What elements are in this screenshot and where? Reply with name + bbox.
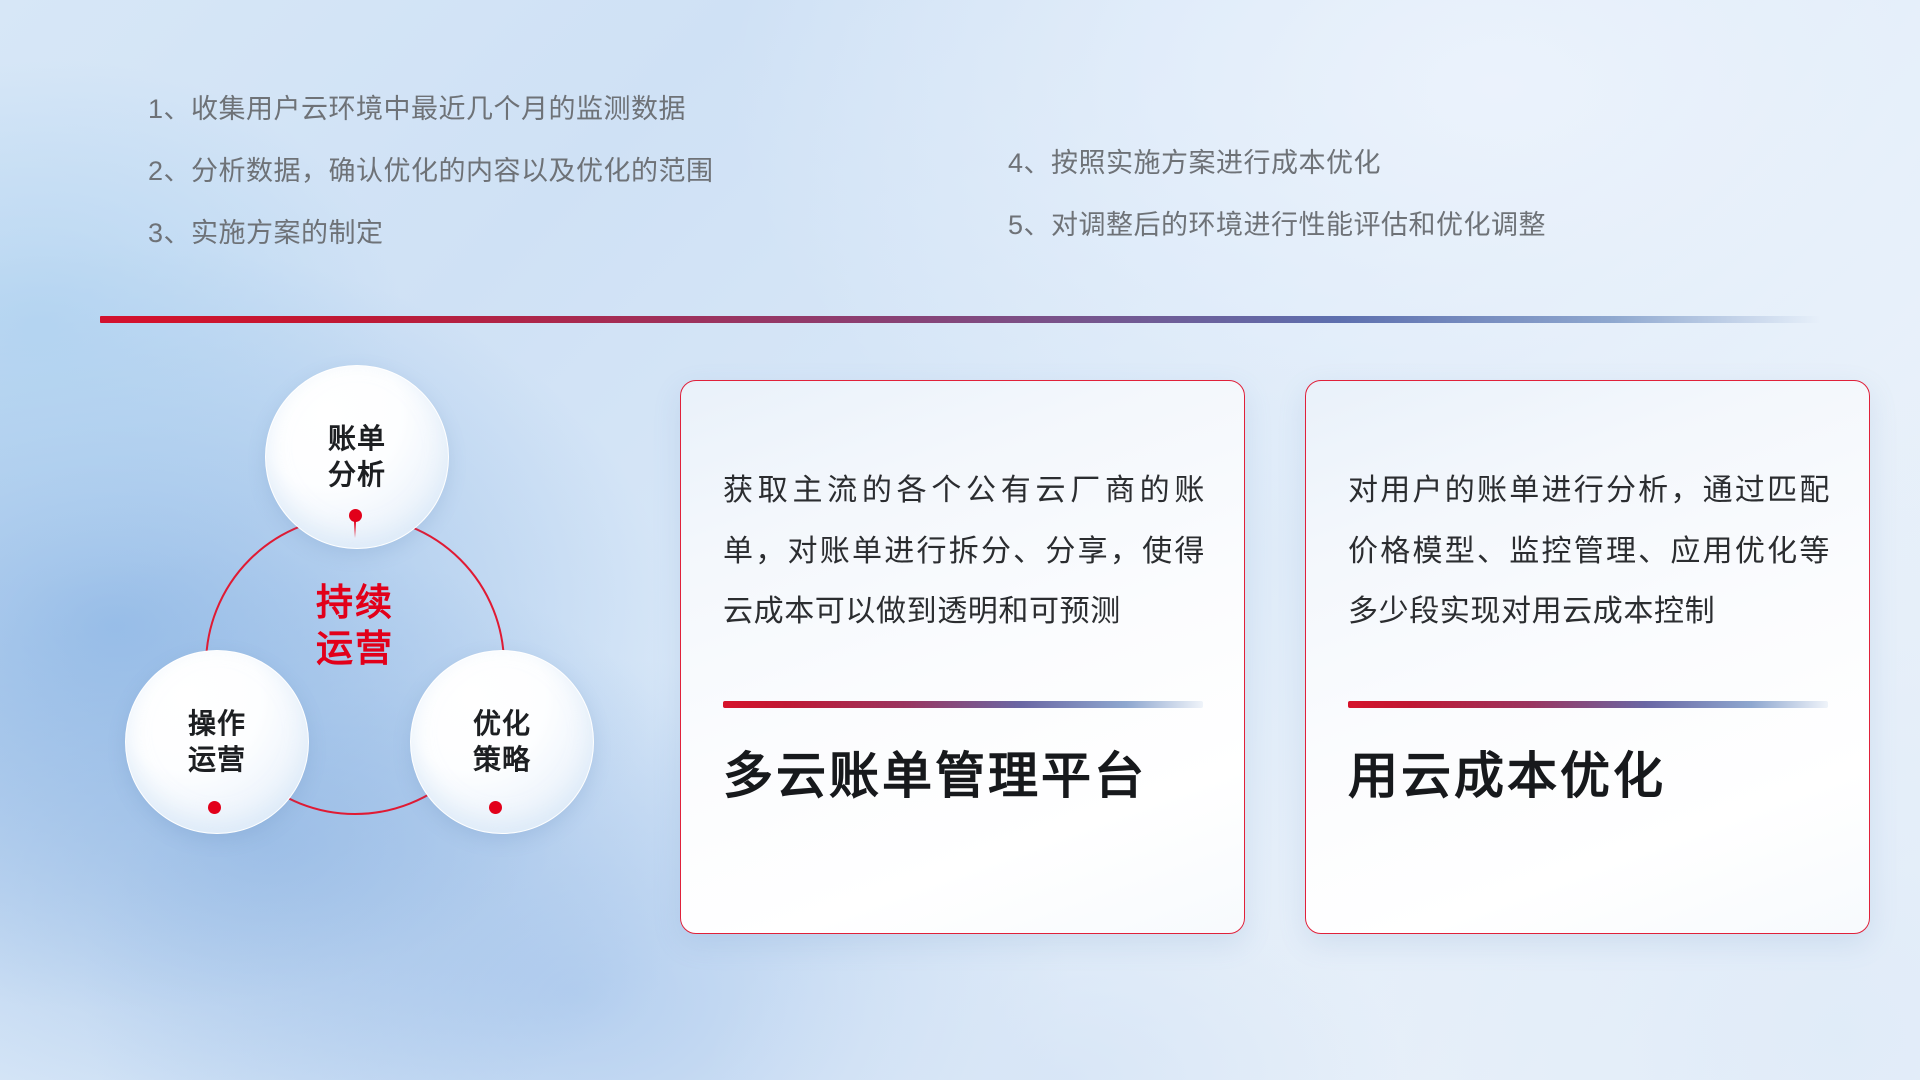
steps-column-left: 1、收集用户云环境中最近几个月的监测数据 2、分析数据，确认优化的内容以及优化的…	[148, 96, 848, 247]
lobe-label: 优化策略	[473, 706, 531, 778]
card-cloud-cost-optimization[interactable]: 对用户的账单进行分析，通过匹配价格模型、监控管理、应用优化等多少段实现对用云成本…	[1305, 380, 1870, 934]
lobe-label: 操作运营	[188, 706, 246, 778]
step-item: 2、分析数据，确认优化的内容以及优化的范围	[148, 158, 848, 185]
step-item: 5、对调整后的环境进行性能评估和优化调整	[1008, 212, 1768, 239]
card-body-text: 对用户的账单进行分析，通过匹配价格模型、监控管理、应用优化等多少段实现对用云成本…	[1348, 461, 1830, 643]
header-divider-rule	[100, 316, 1820, 323]
lobe-label-line-2: 运营	[188, 744, 246, 775]
steps-section: 1、收集用户云环境中最近几个月的监测数据 2、分析数据，确认优化的内容以及优化的…	[0, 0, 1920, 255]
step-item: 1、收集用户云环境中最近几个月的监测数据	[148, 96, 848, 123]
step-item: 4、按照实施方案进行成本优化	[1008, 150, 1768, 177]
node-dot-bottom-right	[489, 801, 502, 814]
venn-diagram: 持续 运营 账单分析 操作运营 优化策略	[95, 355, 565, 915]
lobe-label: 账单分析	[328, 421, 386, 493]
steps-column-right: 4、按照实施方案进行成本优化 5、对调整后的环境进行性能评估和优化调整	[1008, 150, 1768, 239]
node-dot-bottom-left	[208, 801, 221, 814]
card-body-text: 获取主流的各个公有云厂商的账单，对账单进行拆分、分享，使得云成本可以做到透明和可…	[723, 461, 1205, 643]
connector-tick-top	[354, 521, 356, 538]
card-title: 用云成本优化	[1348, 746, 1830, 806]
lobe-label-line-1: 账单	[328, 423, 386, 454]
lobe-label-line-2: 策略	[473, 744, 531, 775]
lobe-label-line-2: 分析	[328, 459, 386, 490]
center-label-line-1: 持续	[205, 580, 505, 626]
lobe-label-line-1: 操作	[188, 708, 246, 739]
card-multicloud-billing[interactable]: 获取主流的各个公有云厂商的账单，对账单进行拆分、分享，使得云成本可以做到透明和可…	[680, 380, 1245, 934]
step-item: 3、实施方案的制定	[148, 220, 848, 247]
lobe-label-line-1: 优化	[473, 708, 531, 739]
card-divider	[723, 701, 1203, 708]
card-title: 多云账单管理平台	[723, 746, 1205, 806]
node-dot-top	[349, 509, 362, 522]
card-divider	[1348, 701, 1828, 708]
cards-section: 获取主流的各个公有云厂商的账单，对账单进行拆分、分享，使得云成本可以做到透明和可…	[680, 380, 1870, 940]
lobe-optimization-strategy[interactable]: 优化策略	[410, 650, 594, 834]
